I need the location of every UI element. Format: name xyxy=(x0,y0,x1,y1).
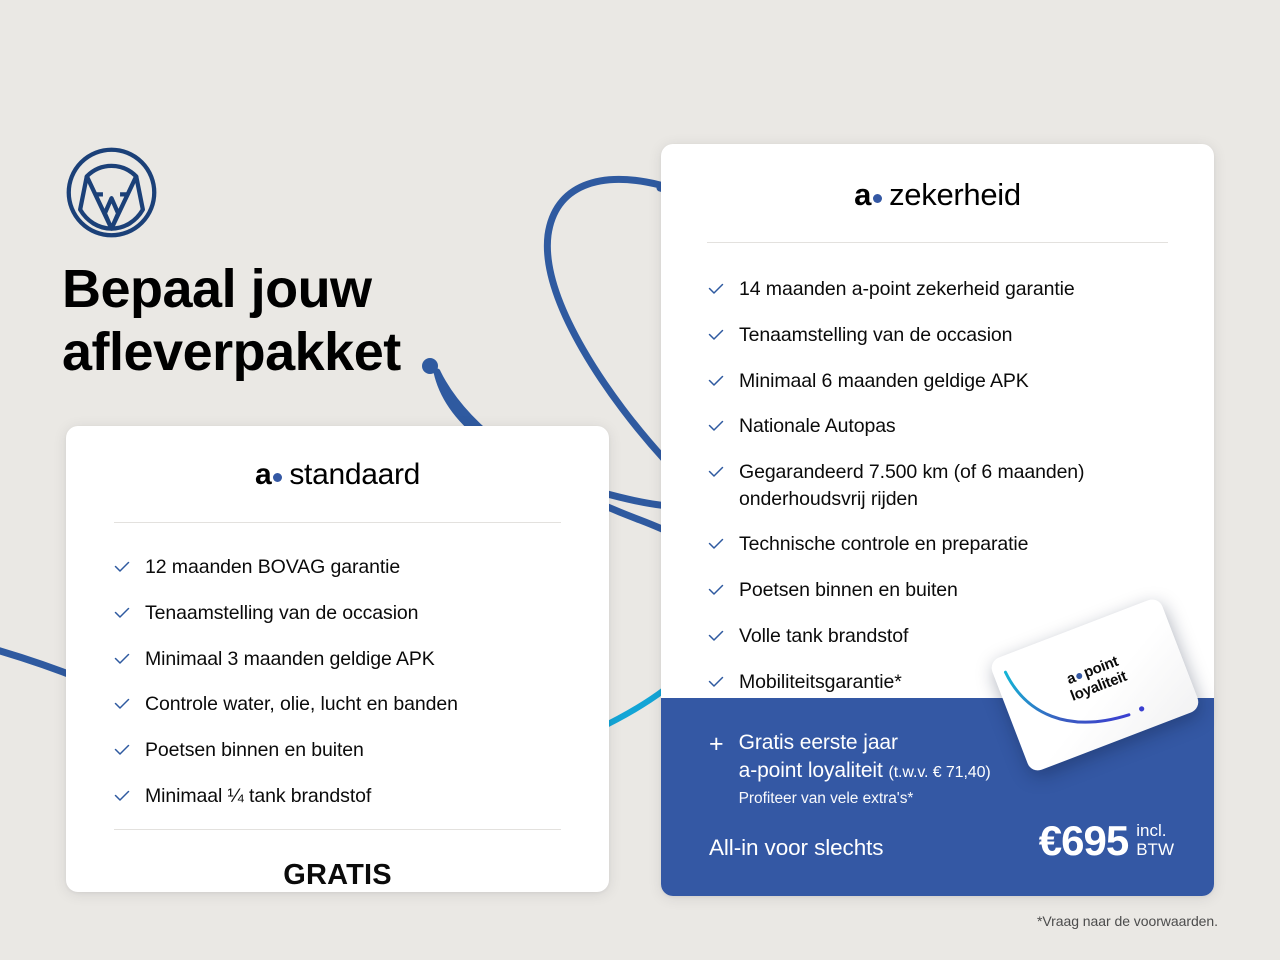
check-icon xyxy=(707,327,725,345)
price-standaard: GRATIS xyxy=(66,859,609,892)
check-icon xyxy=(113,651,131,669)
feature-label: Controle water, olie, lucht en banden xyxy=(145,691,468,717)
price-unit-line-2: BTW xyxy=(1136,840,1174,859)
feature-label: Volle tank brandstof xyxy=(739,623,918,649)
check-icon xyxy=(113,696,131,714)
promo-poster: Bepaal jouw afleverpakket astandaard 12 … xyxy=(0,0,1280,960)
feature-label: Tenaamstelling van de occasion xyxy=(739,322,1022,348)
divider-top xyxy=(707,242,1168,243)
check-icon xyxy=(707,464,725,482)
check-icon xyxy=(707,628,725,646)
feature-list-standaard: 12 maanden BOVAG garantie Tenaamstelling… xyxy=(113,554,609,809)
check-icon xyxy=(707,582,725,600)
bonus-line-1: Gratis eerste jaar xyxy=(739,729,991,757)
package-card-zekerheid: azekerheid 14 maanden a-point zekerheid … xyxy=(661,144,1214,896)
list-item: Minimaal 6 maanden geldige APK xyxy=(707,368,1214,394)
feature-label: Technische controle en preparatie xyxy=(739,531,1038,557)
list-item: Controle water, olie, lucht en banden xyxy=(113,691,609,717)
list-item: 14 maanden a-point zekerheid garantie xyxy=(707,276,1214,302)
feature-label: Tenaamstelling van de occasion xyxy=(145,600,428,626)
page-title: Bepaal jouw afleverpakket xyxy=(62,258,401,384)
card-title-standaard: astandaard xyxy=(66,458,609,492)
feature-label: 14 maanden a-point zekerheid garantie xyxy=(739,276,1085,302)
footnote: *Vraag naar de voorwaarden. xyxy=(1037,913,1218,929)
price-unit: incl. BTW xyxy=(1136,821,1174,861)
price-label: All-in voor slechts xyxy=(709,835,883,861)
price-group: €695 incl. BTW xyxy=(1039,820,1174,862)
card-title-text: standaard xyxy=(289,458,420,491)
check-icon xyxy=(707,536,725,554)
package-card-standaard: astandaard 12 maanden BOVAG garantie Ten… xyxy=(66,426,609,892)
check-icon xyxy=(707,281,725,299)
volkswagen-logo-icon xyxy=(64,145,159,240)
list-item: Technische controle en preparatie xyxy=(707,531,1214,557)
check-icon xyxy=(707,373,725,391)
list-item: Tenaamstelling van de occasion xyxy=(113,600,609,626)
feature-label: Minimaal 6 maanden geldige APK xyxy=(739,368,1039,394)
feature-label: Poetsen binnen en buiten xyxy=(739,577,968,603)
brand-dot-icon xyxy=(273,473,282,482)
feature-label: 12 maanden BOVAG garantie xyxy=(145,554,410,580)
bonus-line-2-text: a-point loyaliteit xyxy=(739,759,883,782)
price-row: All-in voor slechts €695 incl. BTW xyxy=(709,820,1174,862)
check-icon xyxy=(707,674,725,692)
plus-icon: + xyxy=(709,732,724,757)
list-item: Minimaal 3 maanden geldige APK xyxy=(113,646,609,672)
check-icon xyxy=(113,742,131,760)
price-unit-line-1: incl. xyxy=(1136,821,1166,840)
list-item: Tenaamstelling van de occasion xyxy=(707,322,1214,348)
bonus-block: + Gratis eerste jaar a-point loyaliteit … xyxy=(709,729,991,808)
bonus-subtext: Profiteer van vele extra's* xyxy=(739,790,991,808)
price-amount: €695 xyxy=(1039,820,1128,862)
feature-label: Poetsen binnen en buiten xyxy=(145,737,374,763)
brand-a-letter: a xyxy=(854,177,871,212)
list-item: Poetsen binnen en buiten xyxy=(707,577,1214,603)
brand-dot-icon xyxy=(873,194,882,203)
list-item: 12 maanden BOVAG garantie xyxy=(113,554,609,580)
check-icon xyxy=(113,605,131,623)
divider-bottom xyxy=(114,829,561,830)
list-item: Minimaal ¼ tank brandstof xyxy=(113,783,609,809)
card-title-zekerheid: azekerheid xyxy=(661,177,1214,213)
list-item: Nationale Autopas xyxy=(707,413,1214,439)
list-item: Gegarandeerd 7.500 km (of 6 maanden) ond… xyxy=(707,459,1214,512)
bonus-worth: (t.w.v. € 71,40) xyxy=(888,764,990,781)
feature-label: Mobiliteitsgarantie* xyxy=(739,669,912,695)
card-title-text: zekerheid xyxy=(889,177,1021,212)
check-icon xyxy=(113,788,131,806)
bonus-line-2: a-point loyaliteit (t.w.v. € 71,40) xyxy=(739,757,991,785)
divider-top xyxy=(114,522,561,523)
list-item: Poetsen binnen en buiten xyxy=(113,737,609,763)
feature-label: Nationale Autopas xyxy=(739,413,906,439)
feature-label: Gegarandeerd 7.500 km (of 6 maanden) ond… xyxy=(739,459,1214,512)
check-icon xyxy=(707,418,725,436)
check-icon xyxy=(113,559,131,577)
feature-label: Minimaal ¼ tank brandstof xyxy=(145,783,381,809)
brand-a-letter: a xyxy=(255,458,271,491)
feature-label: Minimaal 3 maanden geldige APK xyxy=(145,646,445,672)
